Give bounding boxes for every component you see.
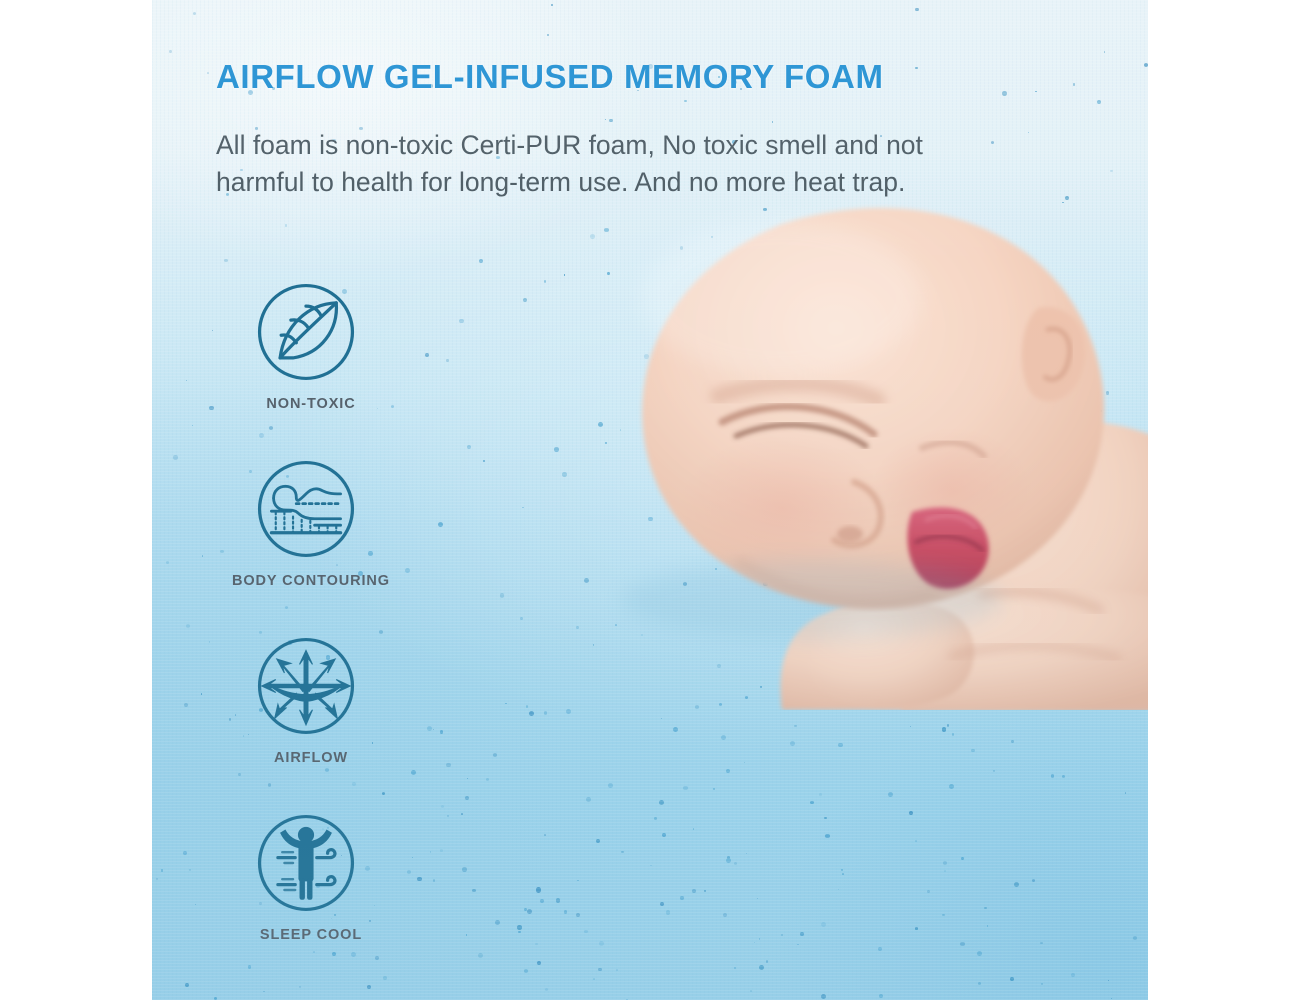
feature-item-non-toxic: NON-TOXIC [230, 278, 440, 455]
feature-label: SLEEP COOL [216, 927, 406, 943]
feature-item-sleep-cool: SLEEP COOL [230, 809, 440, 986]
body-contouring-icon [252, 455, 360, 563]
infographic-panel: AIRFLOW GEL-INFUSED MEMORY FOAM All foam… [152, 0, 1148, 1000]
page-title: AIRFLOW GEL-INFUSED MEMORY FOAM [216, 58, 1096, 96]
feature-item-body-contouring: BODY CONTOURING [230, 455, 440, 632]
feature-label: BODY CONTOURING [216, 573, 406, 589]
feature-item-airflow: AIRFLOW [230, 632, 440, 809]
sleeping-baby-photo [482, 190, 1148, 710]
product-infographic-image: AIRFLOW GEL-INFUSED MEMORY FOAM All foam… [0, 0, 1300, 1000]
sleep-cool-icon [252, 809, 360, 917]
feature-label: NON-TOXIC [216, 396, 406, 412]
description-text: All foam is non-toxic Certi-PUR foam, No… [216, 127, 956, 201]
leaf-icon [252, 278, 360, 386]
feature-list: NON-TOXIC [230, 278, 440, 986]
feature-label: AIRFLOW [216, 750, 406, 766]
airflow-arrows-icon [252, 632, 360, 740]
